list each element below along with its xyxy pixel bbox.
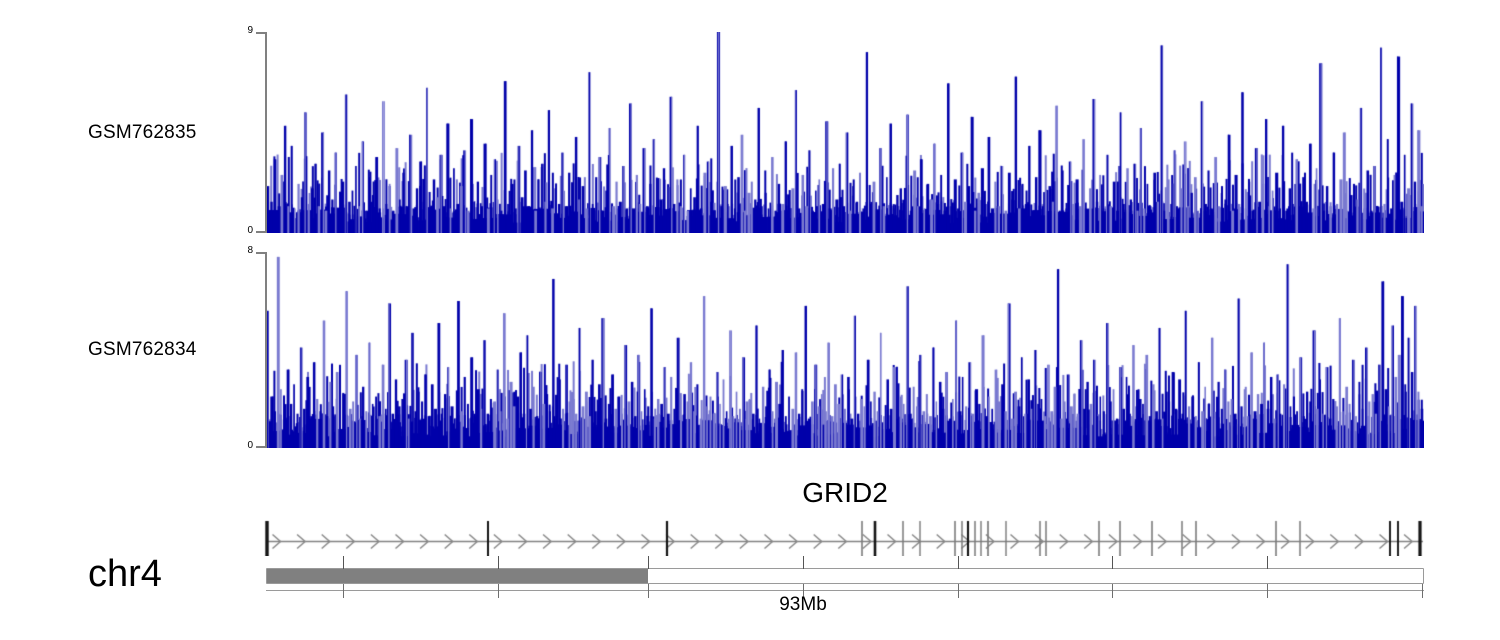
ideogram-tick-2 bbox=[648, 556, 649, 569]
genome-browser-view: GSM762835 9 0 GSM762834 8 0 GRID2 chr4 9… bbox=[0, 0, 1500, 640]
ruler-tick-6 bbox=[1267, 584, 1268, 598]
track1-axis-max-label: 9 bbox=[235, 25, 253, 36]
track1-axis-tick-max bbox=[256, 32, 267, 34]
track2-axis-max-label: 8 bbox=[235, 245, 253, 256]
ruler-tick-1 bbox=[498, 584, 499, 598]
coverage-canvas-gsm762835 bbox=[267, 32, 1424, 233]
track1-axis-tick-min bbox=[256, 231, 267, 233]
ideogram-tick-4 bbox=[958, 556, 959, 569]
gene-model-track[interactable] bbox=[260, 508, 1440, 556]
track2-axis-min-label: 0 bbox=[235, 440, 253, 451]
coverage-plot-gsm762834[interactable] bbox=[267, 252, 1424, 448]
ideogram-tick-3 bbox=[803, 556, 804, 569]
gene-model-canvas bbox=[260, 508, 1440, 556]
ideogram-band-fill bbox=[267, 569, 648, 583]
ruler-baseline bbox=[266, 590, 1424, 591]
track-label-gsm762834: GSM762834 bbox=[88, 339, 196, 361]
gene-name-label[interactable]: GRID2 bbox=[745, 477, 945, 509]
track1-axis-min-label: 0 bbox=[235, 225, 253, 236]
ideogram-tick-5 bbox=[1112, 556, 1113, 569]
ruler-label-93mb: 93Mb bbox=[748, 594, 858, 616]
ruler-tick-4 bbox=[958, 584, 959, 598]
ruler-tick-5 bbox=[1112, 584, 1113, 598]
ideogram-tick-6 bbox=[1267, 556, 1268, 569]
ideogram-tick-1 bbox=[498, 556, 499, 569]
chromosome-label: chr4 bbox=[88, 553, 162, 596]
ruler-tick-2 bbox=[648, 584, 649, 598]
coverage-canvas-gsm762834 bbox=[267, 252, 1424, 448]
ideogram-tick-0 bbox=[343, 556, 344, 569]
ruler-tick-0 bbox=[343, 584, 344, 598]
track2-axis-tick-max bbox=[256, 252, 267, 254]
track2-axis-tick-min bbox=[256, 446, 267, 448]
track-label-gsm762835: GSM762835 bbox=[88, 122, 196, 144]
coverage-plot-gsm762835[interactable] bbox=[267, 32, 1424, 233]
ruler-tick-7 bbox=[1422, 584, 1423, 598]
